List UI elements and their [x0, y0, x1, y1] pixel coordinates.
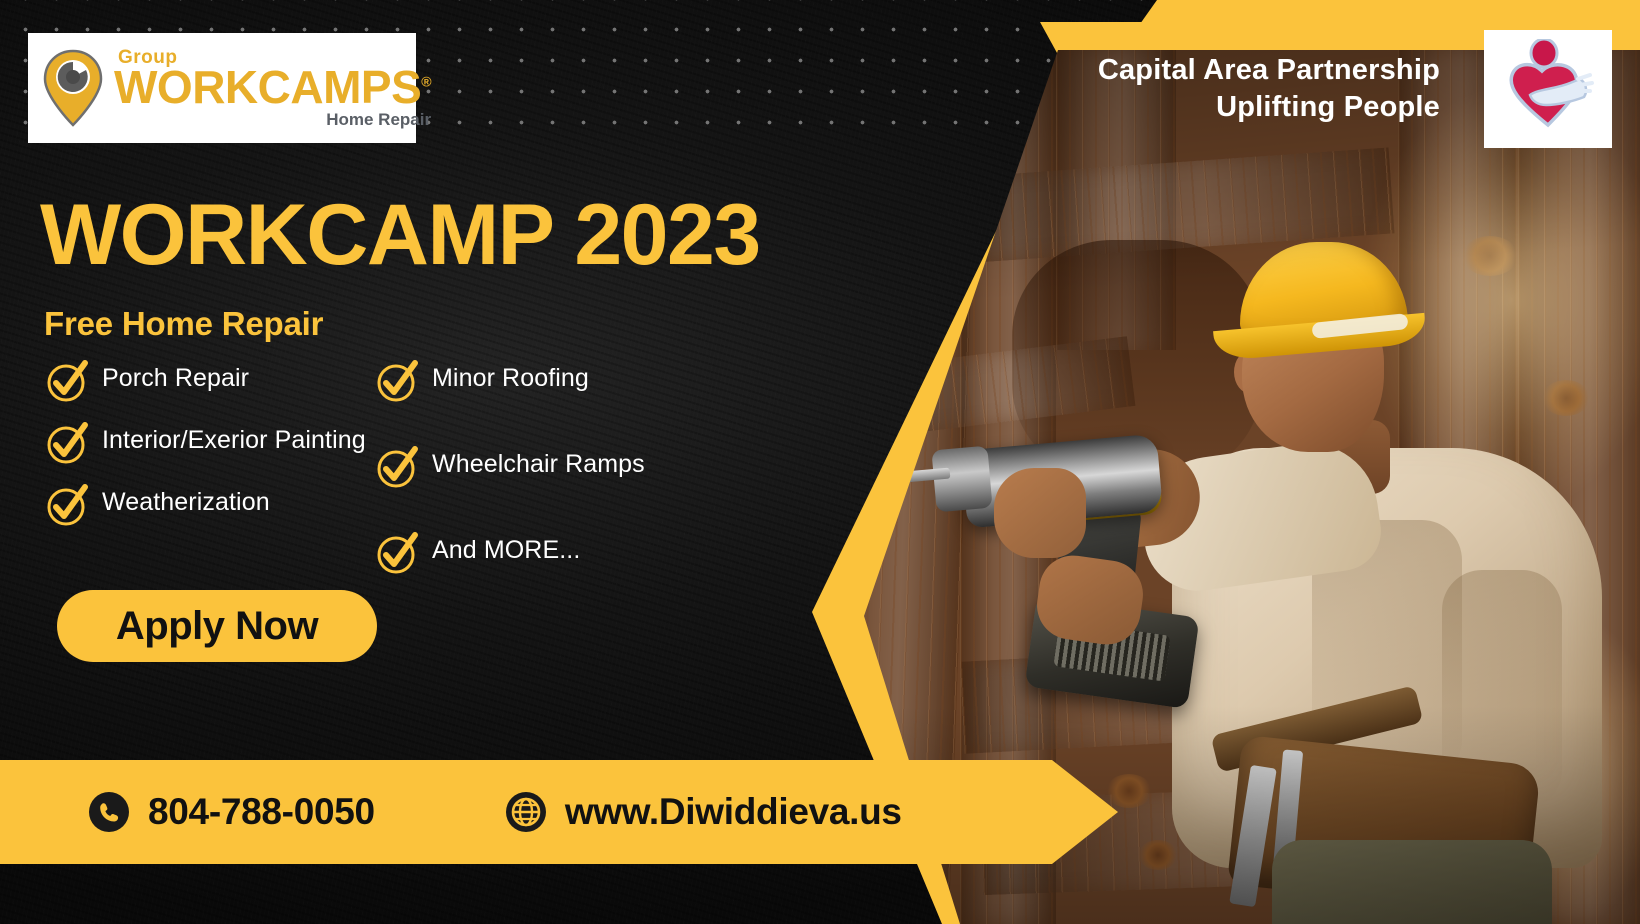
- list-item: Weatherization: [44, 482, 374, 528]
- list-item: Interior/Exerior Painting: [44, 420, 374, 466]
- check-circle-icon: [44, 420, 90, 466]
- globe-icon: [505, 791, 547, 833]
- group-workcamps-logo: Group WORKCAMPS® Home Repair: [28, 33, 416, 143]
- apply-now-button[interactable]: Apply Now: [57, 590, 377, 662]
- logo-registered-mark: ®: [421, 74, 431, 90]
- partner-line-1: Capital Area Partnership: [1098, 52, 1440, 89]
- partner-name: Capital Area Partnership Uplifting Peopl…: [1098, 52, 1440, 126]
- top-accent-bar: [1140, 0, 1640, 24]
- logo-tagline: Home Repair: [114, 111, 431, 128]
- partner-logo: [1484, 30, 1612, 148]
- wood-knot: [1106, 774, 1152, 808]
- list-item: And MORE...: [374, 530, 704, 576]
- phone-number: 804-788-0050: [148, 791, 375, 833]
- wood-knot: [1138, 840, 1178, 870]
- contact-bar: 804-788-0050 www.Diwiddieva.us: [0, 760, 1118, 864]
- list-item: Porch Repair: [44, 358, 374, 404]
- list-item: Minor Roofing: [374, 358, 704, 404]
- check-circle-icon: [374, 444, 420, 490]
- services-list: Porch Repair Interior/Exerior Painting W…: [44, 358, 774, 616]
- partner-line-2: Uplifting People: [1098, 89, 1440, 126]
- services-column-right: Minor Roofing Wheelchair Ramps And MORE.…: [374, 358, 704, 616]
- service-label: And MORE...: [432, 530, 580, 567]
- list-item: Wheelchair Ramps: [374, 444, 704, 490]
- flyer-canvas: Group WORKCAMPS® Home Repair Capital Are…: [0, 0, 1640, 924]
- logo-main-word: WORKCAMPS®: [114, 64, 431, 110]
- subtitle: Free Home Repair: [44, 305, 323, 343]
- website-contact[interactable]: www.Diwiddieva.us: [505, 791, 902, 833]
- service-label: Wheelchair Ramps: [432, 444, 645, 481]
- service-label: Interior/Exerior Painting: [102, 420, 366, 457]
- website-url: www.Diwiddieva.us: [565, 791, 902, 833]
- service-label: Minor Roofing: [432, 358, 589, 395]
- page-title: WORKCAMP 2023: [40, 192, 760, 278]
- check-circle-icon: [44, 358, 90, 404]
- location-pin-icon: [42, 49, 104, 127]
- heart-embrace-icon: [1500, 39, 1596, 139]
- service-label: Weatherization: [102, 482, 270, 519]
- check-circle-icon: [44, 482, 90, 528]
- logo-wordmark: Group WORKCAMPS® Home Repair: [114, 48, 431, 128]
- services-column-left: Porch Repair Interior/Exerior Painting W…: [44, 358, 374, 616]
- service-label: Porch Repair: [102, 358, 249, 395]
- phone-contact[interactable]: 804-788-0050: [88, 791, 375, 833]
- check-circle-icon: [374, 530, 420, 576]
- worker-hand-left: [994, 468, 1086, 558]
- check-circle-icon: [374, 358, 420, 404]
- phone-icon: [88, 791, 130, 833]
- worker-pants: [1272, 840, 1552, 924]
